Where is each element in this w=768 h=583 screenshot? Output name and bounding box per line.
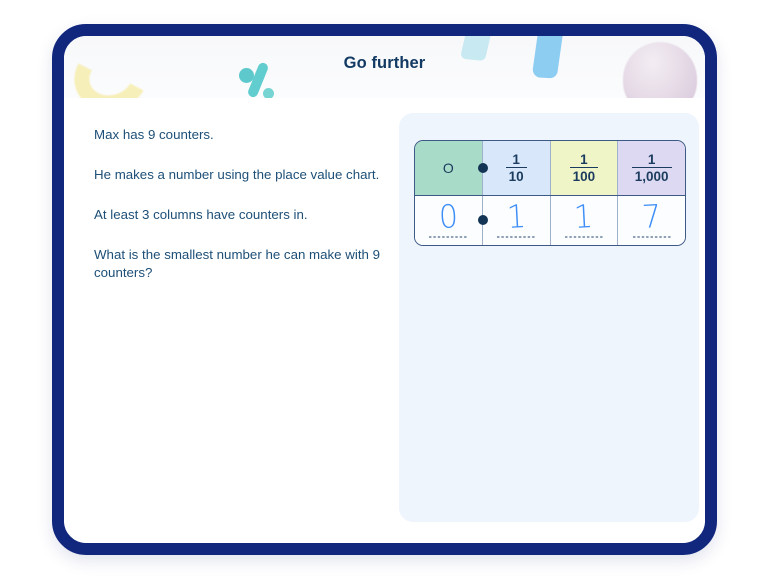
header-cell-tenths: 1 10 xyxy=(483,141,551,195)
handwritten-digit: 7 xyxy=(641,202,662,235)
fraction-numerator: 1 xyxy=(506,152,527,167)
question-line-2: He makes a number using the place value … xyxy=(94,166,394,184)
fraction-denominator: 1,000 xyxy=(632,167,672,184)
header-cell-ones: O xyxy=(415,141,483,195)
dotted-rule xyxy=(428,236,468,238)
answer-cell-tenths[interactable]: 1 xyxy=(483,196,551,245)
place-value-chart: O 1 10 1 100 xyxy=(414,140,686,246)
answer-cell-hundredths[interactable]: 1 xyxy=(551,196,619,245)
fraction-hundredths: 1 100 xyxy=(570,152,599,184)
page-title: Go further xyxy=(64,54,705,73)
place-value-answer-row: 0 1 1 7 xyxy=(415,195,685,245)
fraction-tenths: 1 10 xyxy=(506,152,527,184)
header-cell-hundredths: 1 100 xyxy=(551,141,619,195)
handwritten-digit: 1 xyxy=(506,202,527,235)
percent-dot-icon xyxy=(263,88,274,98)
slide-card: Go further Max has 9 counters. He makes … xyxy=(64,36,705,543)
ones-label: O xyxy=(443,160,454,176)
workspace-panel: O 1 10 1 100 xyxy=(399,113,699,522)
question-line-1: Max has 9 counters. xyxy=(94,126,394,144)
handwritten-digit: 0 xyxy=(438,202,459,235)
place-value-header-row: O 1 10 1 100 xyxy=(415,141,685,195)
slide-header: Go further xyxy=(64,36,705,98)
dotted-rule xyxy=(632,236,672,238)
decimal-point-answer xyxy=(478,215,488,225)
question-text-block: Max has 9 counters. He makes a number us… xyxy=(94,126,394,282)
question-line-4: What is the smallest number he can make … xyxy=(94,246,394,282)
handwritten-digit: 1 xyxy=(574,202,595,235)
dotted-rule xyxy=(564,236,604,238)
fraction-thousandths: 1 1,000 xyxy=(632,152,672,184)
dotted-rule xyxy=(496,236,536,238)
fraction-denominator: 10 xyxy=(506,167,527,184)
question-line-3: At least 3 columns have counters in. xyxy=(94,206,394,224)
header-cell-thousandths: 1 1,000 xyxy=(618,141,685,195)
decimal-point-header xyxy=(478,163,488,173)
fraction-numerator: 1 xyxy=(570,152,599,167)
fraction-denominator: 100 xyxy=(570,167,599,184)
answer-cell-thousandths[interactable]: 7 xyxy=(618,196,685,245)
answer-cell-ones[interactable]: 0 xyxy=(415,196,483,245)
slide-stage: Go further Max has 9 counters. He makes … xyxy=(0,0,768,583)
slide-frame: Go further Max has 9 counters. He makes … xyxy=(52,24,717,555)
fraction-numerator: 1 xyxy=(632,152,672,167)
